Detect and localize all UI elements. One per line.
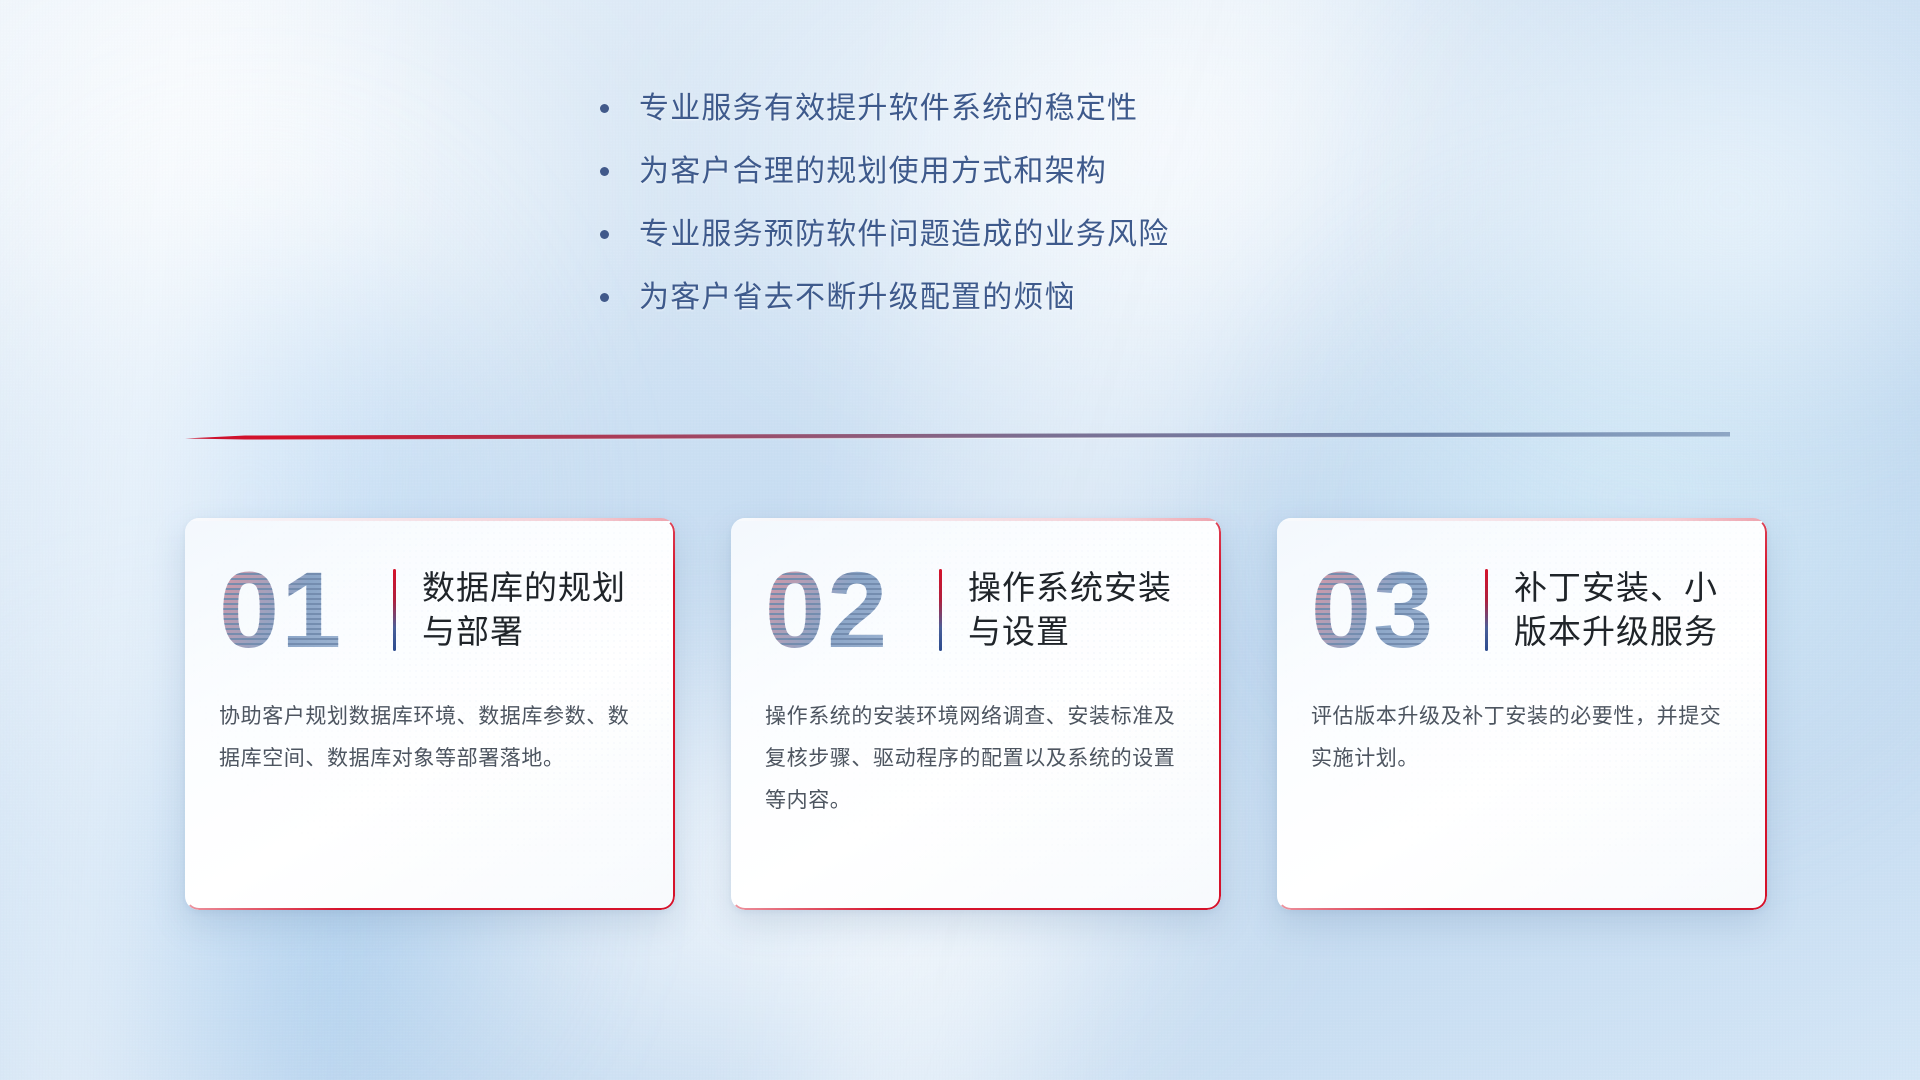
service-card-01[interactable]: 01 数据库的规划与部署 协助客户规划数据库环境、数据库参数、数据库空间、数据库… [185,518,675,910]
card-header: 03 补丁安装、小版本升级服务 [1277,518,1767,668]
card-title-divider-bar [939,569,942,651]
card-title-divider-bar [393,569,396,651]
bullet-dot-icon [600,104,609,113]
card-title-divider-bar [1485,569,1488,651]
list-item: 为客户省去不断升级配置的烦恼 [600,281,1320,314]
card-header: 01 数据库的规划与部署 [185,518,675,668]
card-title: 补丁安装、小版本升级服务 [1514,566,1733,653]
card-description: 协助客户规划数据库环境、数据库参数、数据库空间、数据库对象等部署落地。 [185,668,675,780]
card-number-text: 02 [765,558,933,662]
card-number-text: 01 [219,558,387,662]
bullet-dot-icon [600,167,609,176]
list-item: 为客户合理的规划使用方式和架构 [600,155,1320,188]
bullet-dot-icon [600,293,609,302]
benefits-bullet-list: 专业服务有效提升软件系统的稳定性 为客户合理的规划使用方式和架构 专业服务预防软… [0,92,1920,314]
bullet-label: 专业服务预防软件问题造成的业务风险 [639,218,1169,251]
card-header: 02 操作系统安装与设置 [731,518,1221,668]
card-description: 操作系统的安装环境网络调查、安装标准及复核步骤、驱动程序的配置以及系统的设置等内… [731,668,1221,822]
section-divider [185,428,1730,448]
service-card-03[interactable]: 03 补丁安装、小版本升级服务 评估版本升级及补丁安装的必要性，并提交实施计划。 [1277,518,1767,910]
service-card-02[interactable]: 02 操作系统安装与设置 操作系统的安装环境网络调查、安装标准及复核步骤、驱动程… [731,518,1221,910]
card-number-decor: 03 [1311,558,1479,662]
service-card-list: 01 数据库的规划与部署 协助客户规划数据库环境、数据库参数、数据库空间、数据库… [185,518,1767,910]
card-title: 操作系统安装与设置 [968,566,1187,653]
bullet-label: 专业服务有效提升软件系统的稳定性 [639,92,1138,125]
bullet-label: 为客户合理的规划使用方式和架构 [639,155,1107,188]
card-number-decor: 02 [765,558,933,662]
bullet-label: 为客户省去不断升级配置的烦恼 [639,281,1076,314]
list-item: 专业服务预防软件问题造成的业务风险 [600,218,1320,251]
card-number-decor: 01 [219,558,387,662]
card-number-text: 03 [1311,558,1479,662]
bullet-dot-icon [600,230,609,239]
card-description: 评估版本升级及补丁安装的必要性，并提交实施计划。 [1277,668,1767,780]
card-title: 数据库的规划与部署 [422,566,641,653]
list-item: 专业服务有效提升软件系统的稳定性 [600,92,1320,125]
